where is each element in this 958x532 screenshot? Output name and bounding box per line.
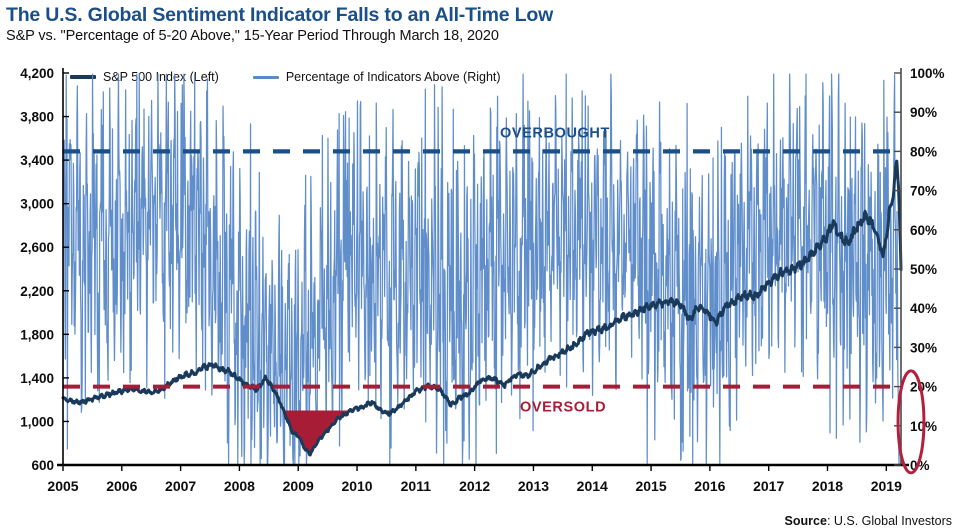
left-axis-tick-label: 3,400 <box>20 153 54 168</box>
left-axis-tick-label: 600 <box>31 458 54 473</box>
chart-plot-area: 6001,0001,4001,8002,2002,6003,0003,4003,… <box>0 0 958 532</box>
left-axis-tick-label: 3,800 <box>20 110 54 125</box>
chart-svg: 6001,0001,4001,8002,2002,6003,0003,4003,… <box>0 0 958 532</box>
left-axis-tick-label: 2,600 <box>20 240 54 255</box>
x-axis-tick-label: 2006 <box>106 478 137 494</box>
series-line-percentage-indicators-above <box>63 74 901 463</box>
right-axis-tick-label: 90% <box>910 105 937 120</box>
right-axis-tick-label: 20% <box>910 380 937 395</box>
x-axis-tick-label: 2019 <box>871 478 902 494</box>
left-axis-tick-label: 4,200 <box>20 66 54 81</box>
right-axis-tick-label: 50% <box>910 262 937 277</box>
source-prefix: Source <box>785 514 827 528</box>
source-text: : U.S. Global Investors <box>827 514 952 528</box>
x-axis-tick-label: 2012 <box>459 478 490 494</box>
right-axis-tick-label: 60% <box>910 223 937 238</box>
left-axis-tick-label: 1,400 <box>20 371 54 386</box>
x-axis-tick-label: 2007 <box>165 478 196 494</box>
right-axis-tick-label: 100% <box>910 66 945 81</box>
oversold-label: OVERSOLD <box>520 400 606 416</box>
x-axis-tick-label: 2009 <box>283 478 314 494</box>
right-axis-tick-label: 80% <box>910 144 937 159</box>
right-axis-tick-label: 30% <box>910 340 937 355</box>
x-axis-tick-label: 2011 <box>401 478 432 494</box>
x-axis-tick-label: 2010 <box>341 478 372 494</box>
x-axis-tick-label: 2018 <box>812 478 843 494</box>
x-axis-tick-label: 2008 <box>224 478 255 494</box>
x-axis-tick-label: 2015 <box>635 478 666 494</box>
right-axis-tick-label: 70% <box>910 184 937 199</box>
right-axis-tick-label: 40% <box>910 301 937 316</box>
x-axis-tick-label: 2014 <box>577 478 608 494</box>
chart-page: The U.S. Global Sentiment Indicator Fall… <box>0 0 958 532</box>
left-axis-tick-label: 3,000 <box>20 197 54 212</box>
x-axis-tick-label: 2017 <box>753 478 784 494</box>
x-axis-tick-label: 2013 <box>518 478 549 494</box>
left-axis-tick-label: 1,000 <box>20 414 54 429</box>
overbought-label: OVERBOUGHT <box>500 125 610 141</box>
left-axis-tick-label: 2,200 <box>20 284 54 299</box>
x-axis-tick-label: 2016 <box>694 478 725 494</box>
x-axis-tick-label: 2005 <box>47 478 78 494</box>
left-axis-tick-label: 1,800 <box>20 327 54 342</box>
source-note: Source: U.S. Global Investors <box>785 514 952 528</box>
